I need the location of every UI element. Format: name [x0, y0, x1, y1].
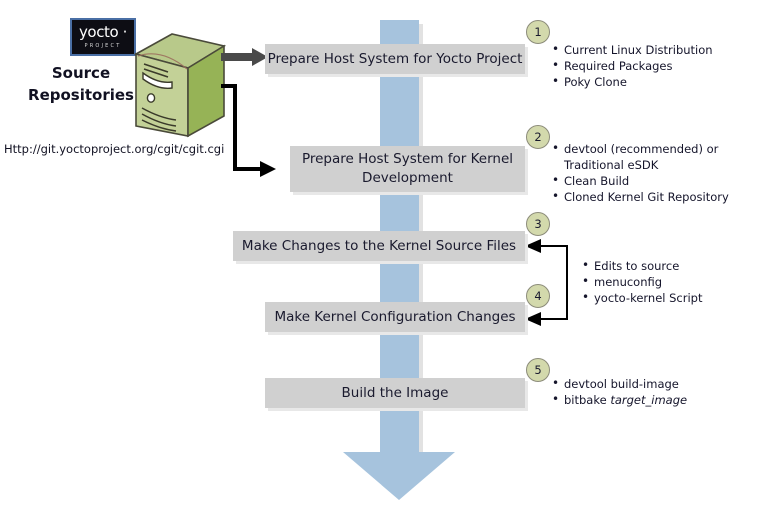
process-box-step3[interactable]: Make Changes to the Kernel Source Files	[233, 231, 525, 261]
step1-bullet-list: Current Linux Distribution Required Pack…	[552, 42, 713, 90]
list-item: Cloned Kernel Git Repository	[552, 189, 729, 205]
process-box-step2-label-line2: Development	[362, 169, 453, 188]
list-item-text: devtool build-image	[564, 377, 679, 391]
connector-server-to-step2-h2	[233, 167, 263, 171]
list-item: Traditional eSDK	[552, 157, 729, 173]
connector-server-to-step1-line	[221, 53, 254, 61]
list-item: Poky Clone	[552, 74, 713, 90]
connector-server-to-step2-arrowhead	[260, 161, 276, 177]
process-box-step2-label-line1: Prepare Host System for Kernel	[302, 150, 513, 169]
connector-server-to-step2-v	[233, 84, 237, 170]
process-box-step3-label: Make Changes to the Kernel Source Files	[242, 237, 516, 256]
process-box-step1[interactable]: Prepare Host System for Yocto Project	[265, 44, 525, 74]
process-box-step4[interactable]: Make Kernel Configuration Changes	[265, 302, 525, 332]
list-item: Required Packages	[552, 58, 713, 74]
process-box-step2[interactable]: Prepare Host System for Kernel Developme…	[290, 146, 525, 192]
step34-bullet-list: Edits to source menuconfig yocto-kernel …	[582, 258, 703, 306]
source-label-line1: Source	[22, 62, 140, 84]
process-box-step1-label: Prepare Host System for Yocto Project	[268, 50, 523, 69]
connector-step34-h-bottom	[540, 318, 568, 320]
list-item: menuconfig	[582, 274, 703, 290]
step5-bullet-list: devtool build-image bitbake target_image	[552, 376, 687, 408]
step-number-1-text: 1	[534, 25, 541, 39]
step-number-5: 5	[526, 358, 550, 382]
process-box-step5-label: Build the Image	[342, 384, 449, 403]
list-item: yocto-kernel Script	[582, 290, 703, 306]
step-number-4: 4	[526, 284, 550, 308]
connector-step3-arrowhead	[525, 239, 541, 253]
list-item: devtool build-image	[552, 376, 687, 392]
workflow-diagram: yocto · PROJECT Source Repositories Http…	[0, 0, 769, 517]
connector-step34-h-top	[540, 245, 568, 247]
list-item: Clean Build	[552, 173, 729, 189]
list-item: bitbake target_image	[552, 392, 687, 408]
logo-wordmark: yocto ·	[72, 25, 134, 40]
step2-bullet-list: devtool (recommended) or Traditional eSD…	[552, 141, 729, 205]
connector-step34-vertical	[566, 245, 568, 320]
step-number-4-text: 4	[534, 289, 541, 303]
logo-subtext: PROJECT	[72, 43, 134, 49]
connector-step4-arrowhead	[525, 312, 541, 326]
source-repository-url: Http://git.yoctoproject.org/cgit/cgit.cg…	[4, 142, 224, 156]
list-item-text: bitbake	[564, 393, 610, 407]
step-number-2-text: 2	[534, 130, 541, 144]
step-number-3-text: 3	[534, 217, 541, 231]
step-number-1: 1	[526, 20, 550, 44]
list-item: devtool (recommended) or	[552, 141, 729, 157]
source-repositories-label: Source Repositories	[22, 62, 140, 106]
source-label-line2: Repositories	[22, 84, 140, 106]
yocto-project-logo: yocto · PROJECT	[70, 18, 136, 56]
list-item: Edits to source	[582, 258, 703, 274]
server-tower-icon	[134, 32, 226, 140]
list-item-italic-text: target_image	[610, 393, 687, 407]
step-number-5-text: 5	[534, 363, 541, 377]
list-item: Current Linux Distribution	[552, 42, 713, 58]
step-number-3: 3	[526, 212, 550, 236]
flow-arrow-head	[343, 452, 455, 500]
process-box-step5[interactable]: Build the Image	[265, 378, 525, 408]
step-number-2: 2	[526, 125, 550, 149]
process-box-step4-label: Make Kernel Configuration Changes	[274, 308, 515, 327]
